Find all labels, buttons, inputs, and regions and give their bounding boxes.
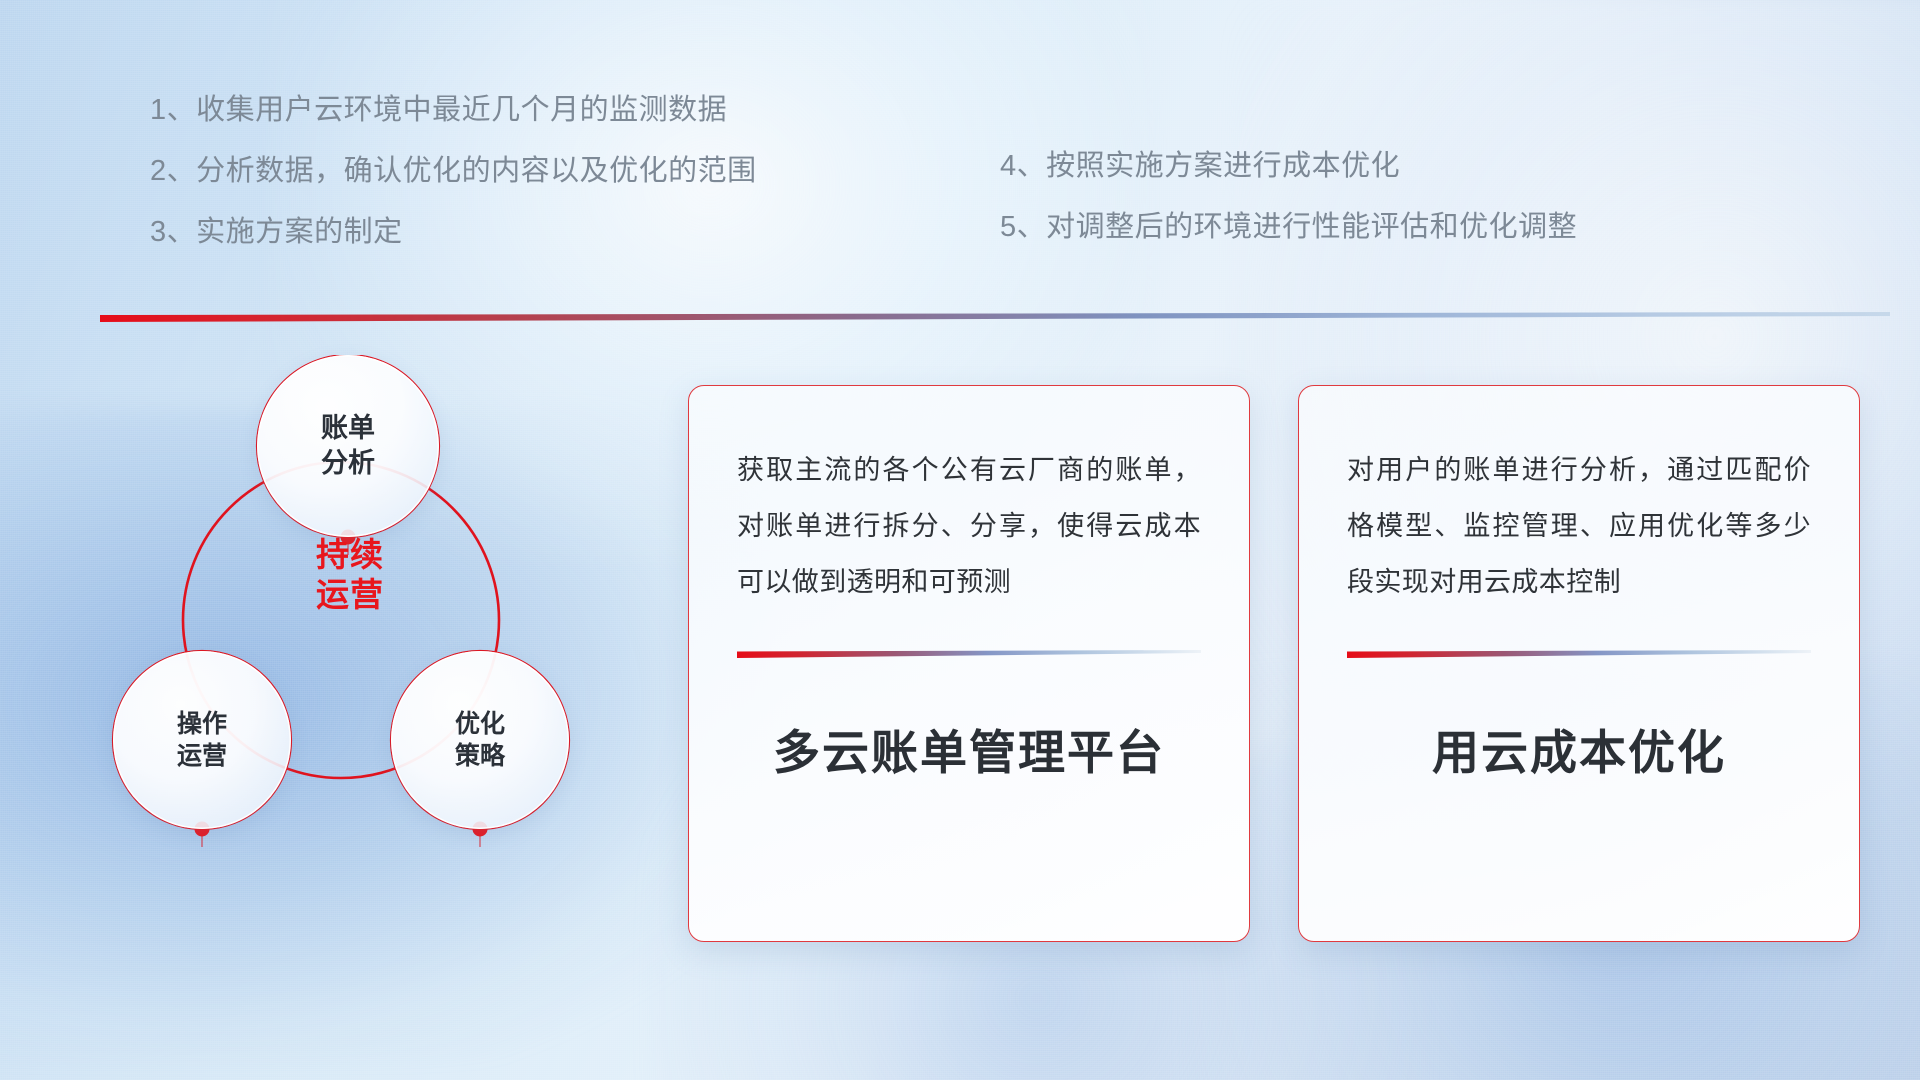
steps-list-left: 1、收集用户云环境中最近几个月的监测数据 2、分析数据，确认优化的内容以及优化的… <box>150 96 870 247</box>
step-item: 3、实施方案的制定 <box>150 218 870 247</box>
cycle-node-optimization-strategy[interactable]: 优化 策略 <box>391 651 569 829</box>
feature-card-multicloud-billing[interactable]: 获取主流的各个公有云厂商的账单，对账单进行拆分、分享，使得云成本可以做到透明和可… <box>688 385 1250 942</box>
cycle-node-label-line1: 优化 <box>455 710 505 738</box>
cycle-center-label: 持续 运营 <box>265 535 435 616</box>
cycle-node-label-line2: 运营 <box>177 742 227 770</box>
step-item: 2、分析数据，确认优化的内容以及优化的范围 <box>150 157 870 186</box>
step-item: 4、按照实施方案进行成本优化 <box>1000 152 1780 181</box>
cycle-node-label-line2: 分析 <box>321 448 375 478</box>
feature-card-title: 用云成本优化 <box>1347 714 1811 783</box>
cycle-node-label: 优化 策略 <box>455 708 505 772</box>
step-item: 5、对调整后的环境进行性能评估和优化调整 <box>1000 213 1780 242</box>
slide-canvas: 1、收集用户云环境中最近几个月的监测数据 2、分析数据，确认优化的内容以及优化的… <box>0 0 1920 1080</box>
cycle-center-label-line1: 持续 <box>316 536 384 573</box>
cycle-center-label-line2: 运营 <box>316 576 384 613</box>
cycle-node-label-line1: 操作 <box>177 710 227 738</box>
steps-list-right: 4、按照实施方案进行成本优化 5、对调整后的环境进行性能评估和优化调整 <box>1000 152 1780 242</box>
cycle-node-operations[interactable]: 操作 运营 <box>113 651 291 829</box>
cycle-node-label: 操作 运营 <box>177 708 227 772</box>
step-item: 1、收集用户云环境中最近几个月的监测数据 <box>150 96 870 125</box>
section-divider <box>100 312 1890 322</box>
feature-card-rule <box>1347 650 1811 658</box>
cycle-node-label-line2: 策略 <box>455 742 505 770</box>
feature-card-body: 获取主流的各个公有云厂商的账单，对账单进行拆分、分享，使得云成本可以做到透明和可… <box>737 442 1201 610</box>
feature-card-rule <box>737 650 1201 658</box>
cycle-node-label-line1: 账单 <box>321 413 375 443</box>
cycle-node-billing-analysis[interactable]: 账单 分析 <box>257 355 439 537</box>
cycle-diagram: 账单 分析 操作 运营 优化 策略 持续 运营 <box>95 355 615 915</box>
feature-card-inner: 获取主流的各个公有云厂商的账单，对账单进行拆分、分享，使得云成本可以做到透明和可… <box>689 386 1249 941</box>
feature-card-inner: 对用户的账单进行分析，通过匹配价格模型、监控管理、应用优化等多少段实现对用云成本… <box>1299 386 1859 941</box>
feature-card-title: 多云账单管理平台 <box>737 714 1201 783</box>
feature-card-cloud-cost-optimization[interactable]: 对用户的账单进行分析，通过匹配价格模型、监控管理、应用优化等多少段实现对用云成本… <box>1298 385 1860 942</box>
feature-card-body: 对用户的账单进行分析，通过匹配价格模型、监控管理、应用优化等多少段实现对用云成本… <box>1347 442 1811 610</box>
cycle-node-label: 账单 分析 <box>321 411 375 480</box>
